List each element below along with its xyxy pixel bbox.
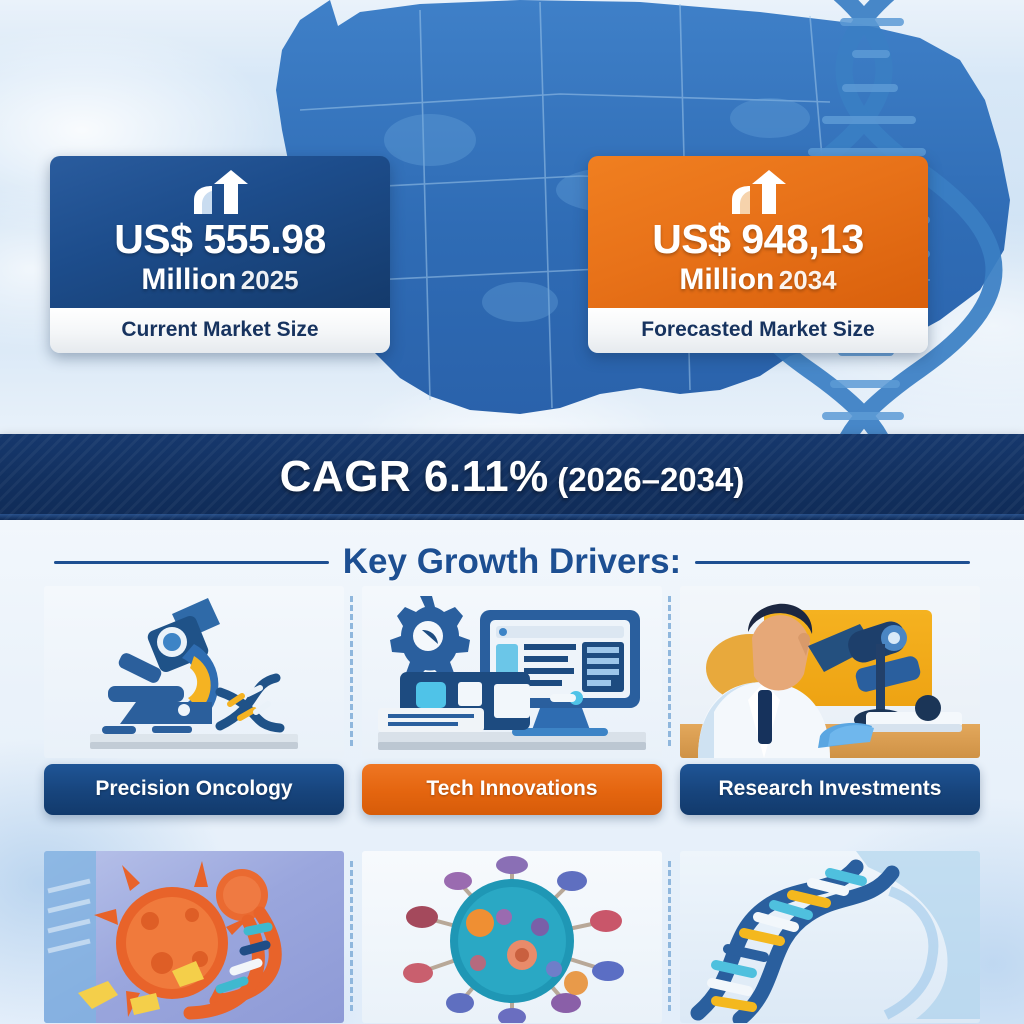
stat-card-subline: Million 2034 xyxy=(598,263,918,296)
stat-card-subline: Million 2025 xyxy=(60,263,380,296)
stat-card-forecasted-market-size[interactable]: US$ 948,13 Million 2034 Forecasted Marke… xyxy=(588,156,928,353)
stat-card-footer-label: Current Market Size xyxy=(50,308,390,353)
stat-card-footer-label: Forecasted Market Size xyxy=(588,308,928,353)
drivers-row: Precision Oncology xyxy=(44,586,980,815)
driver-label[interactable]: Tech Innovations xyxy=(362,764,662,815)
driver-label[interactable]: Precision Oncology xyxy=(44,764,344,815)
virus-particle-icon xyxy=(362,851,662,1023)
cagr-label: CAGR 6.11% xyxy=(280,452,549,501)
cell-divider xyxy=(350,596,353,746)
growth-arrow-icon xyxy=(190,170,250,214)
driver-item-infectious-disease-research[interactable]: Infectious Disease Research xyxy=(362,851,662,1024)
cell-divider xyxy=(350,861,353,1011)
stat-card-value: US$ 555.98 xyxy=(60,218,380,261)
stat-card-year: 2025 xyxy=(241,265,299,295)
stat-card-value: US$ 948,13 xyxy=(598,218,918,261)
stat-card-amount: 555.98 xyxy=(203,216,325,262)
stat-card-currency: US$ xyxy=(114,216,192,262)
drivers-heading: Key Growth Drivers: xyxy=(0,542,1024,582)
drivers-grid: Precision Oncology xyxy=(44,586,980,1024)
stat-card-unit: Million xyxy=(679,263,774,296)
cell-divider xyxy=(668,861,671,1011)
drivers-row: Oncology & Genetic Testing xyxy=(44,851,980,1024)
stat-card-currency: US$ xyxy=(652,216,730,262)
growth-arrow-icon xyxy=(728,170,788,214)
stat-card-unit: Million xyxy=(141,263,236,296)
driver-item-oncology-genetic-testing[interactable]: Oncology & Genetic Testing xyxy=(44,851,344,1024)
cancer-cell-dna-icon xyxy=(44,851,344,1023)
microscope-dna-icon xyxy=(44,586,344,758)
scientist-microscope-icon xyxy=(680,586,980,758)
cell-divider xyxy=(668,596,671,746)
dna-helix-icon xyxy=(680,851,980,1023)
driver-item-precision-oncology[interactable]: Precision Oncology xyxy=(44,586,344,815)
driver-item-tech-innovations[interactable]: Tech Innovations xyxy=(362,586,662,815)
heading-rule-left xyxy=(54,561,329,564)
hero-section: US$ 555.98 Million 2025 Current Market S… xyxy=(0,0,1024,434)
driver-label[interactable]: Research Investments xyxy=(680,764,980,815)
cagr-text: CAGR 6.11% (2026–2034) xyxy=(280,452,745,502)
lab-analyzer-computer-icon xyxy=(362,586,662,758)
heading-rule-right xyxy=(695,561,970,564)
driver-item-research-investments[interactable]: Research Investments xyxy=(680,586,980,815)
stat-card-current-market-size[interactable]: US$ 555.98 Million 2025 Current Market S… xyxy=(50,156,390,353)
driver-item-genetic-disorders[interactable]: Genetic Disorders xyxy=(680,851,980,1024)
stat-card-body: US$ 555.98 Million 2025 xyxy=(50,156,390,308)
key-growth-drivers-section: Key Growth Drivers: xyxy=(0,520,1024,1024)
stat-card-year: 2034 xyxy=(779,265,837,295)
cagr-period: (2026–2034) xyxy=(557,461,744,498)
cagr-banner: CAGR 6.11% (2026–2034) xyxy=(0,434,1024,520)
stat-card-amount: 948,13 xyxy=(741,216,863,262)
drivers-heading-text: Key Growth Drivers: xyxy=(343,542,681,582)
stat-card-body: US$ 948,13 Million 2034 xyxy=(588,156,928,308)
